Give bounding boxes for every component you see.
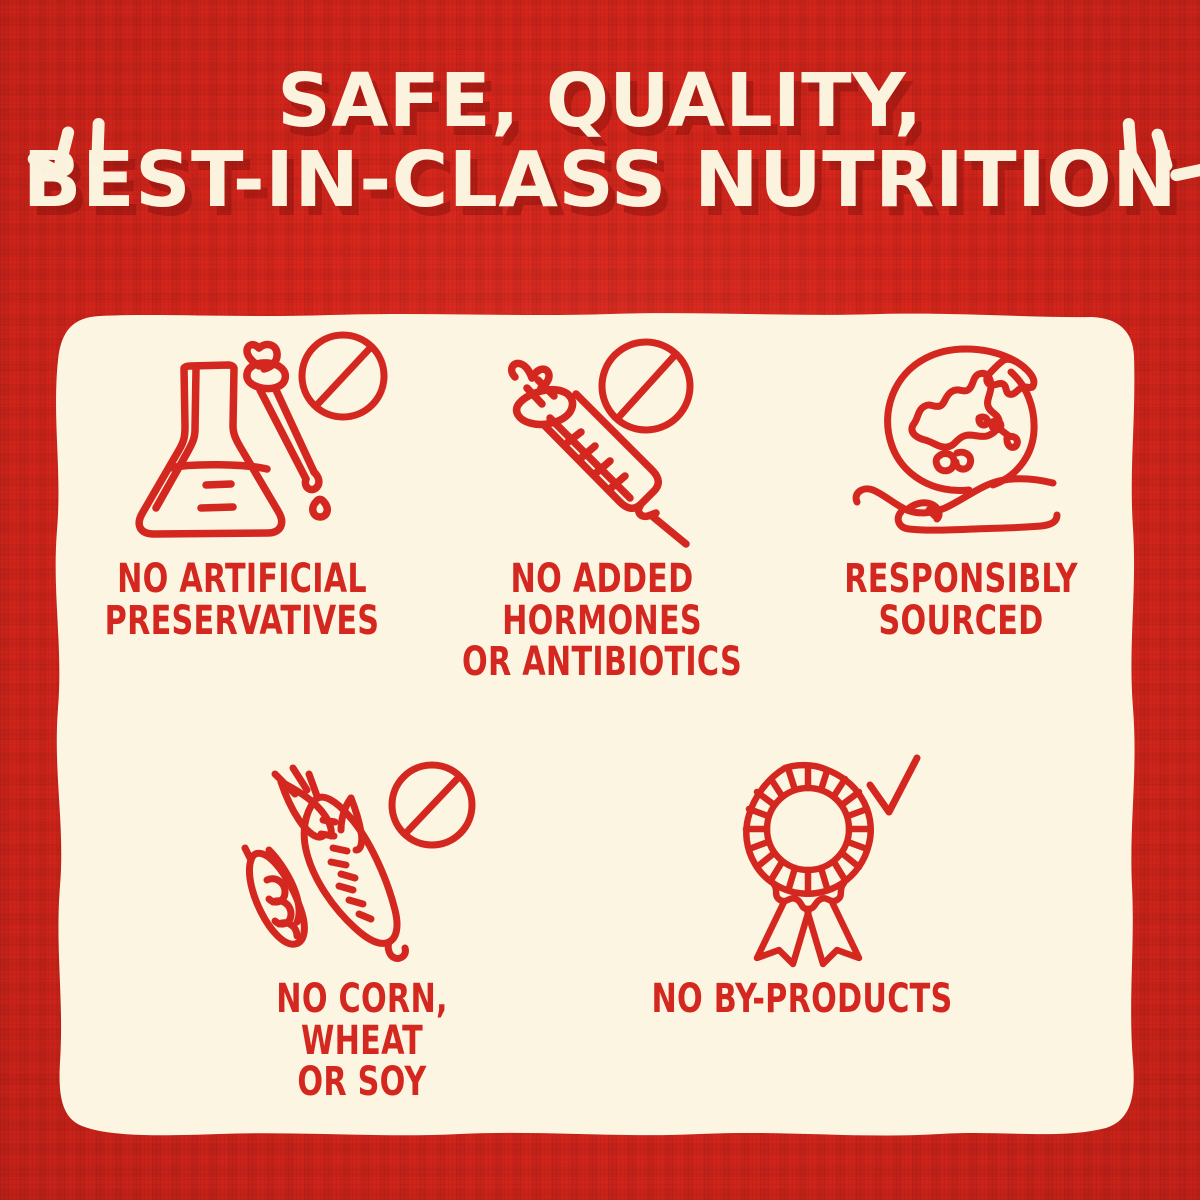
badge-no-added-hormones: NO ADDED HORMONES OR ANTIBIOTICS	[422, 330, 782, 684]
badge-no-artificial-preservatives: NO ARTIFICIAL PRESERVATIVES	[62, 330, 422, 642]
checkmark-icon	[870, 758, 917, 812]
badge-grid: NO ARTIFICIAL PRESERVATIVES	[62, 330, 1140, 1140]
burst-marks-right-icon	[1108, 108, 1200, 203]
globe-in-hand-icon	[782, 330, 1140, 545]
badge-no-by-products: NO BY-PRODUCTS	[622, 750, 982, 1021]
badge-responsibly-sourced: RESPONSIBLY SOURCED	[782, 330, 1140, 642]
badge-label: RESPONSIBLY SOURCED	[811, 559, 1112, 642]
burst-marks-left-icon	[22, 108, 132, 203]
badge-no-corn-wheat-soy: NO CORN, WHEAT OR SOY	[182, 750, 542, 1104]
corn-soy-icon	[182, 750, 542, 965]
flask-dropper-icon	[62, 330, 422, 545]
page-title-line-1: SAFE, QUALITY,	[0, 66, 1200, 138]
badge-label: NO ADDED HORMONES OR ANTIBIOTICS	[451, 559, 753, 684]
syringe-icon	[422, 330, 782, 545]
prohibition-mark-icon	[302, 335, 384, 417]
prohibition-mark-icon	[392, 765, 472, 845]
badge-label: NO ARTIFICIAL PRESERVATIVES	[91, 559, 393, 642]
page-title-line-2: BEST-IN-CLASS NUTRITION	[0, 144, 1200, 219]
award-ribbon-check-icon	[622, 750, 982, 965]
page-title: SAFE, QUALITY, BEST-IN-CLASS NUTRITION	[0, 66, 1200, 218]
badge-label: NO CORN, WHEAT OR SOY	[211, 979, 513, 1104]
badge-label: NO BY-PRODUCTS	[651, 979, 953, 1021]
prohibition-mark-icon	[602, 342, 690, 430]
promo-poster: SAFE, QUALITY, BEST-IN-CLASS NUTRITION	[0, 0, 1200, 1200]
